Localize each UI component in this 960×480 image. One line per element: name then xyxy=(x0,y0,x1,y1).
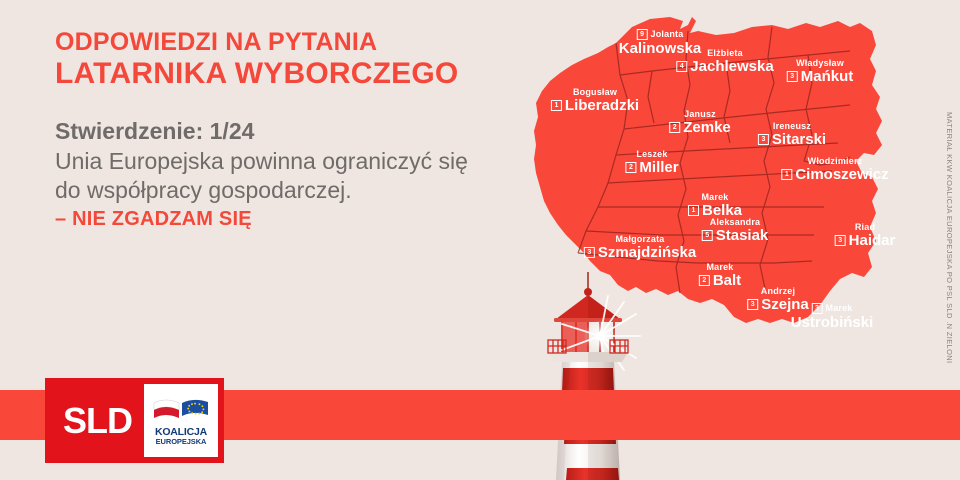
candidate-first-name: Andrzej xyxy=(747,287,809,296)
candidate-number-badge: 3 xyxy=(811,303,822,314)
candidate-last-name: Stasiak xyxy=(716,228,769,243)
statement-number-label: Stwierdzenie: 1/24 xyxy=(55,118,485,146)
candidate-last-name: Balt xyxy=(713,273,741,288)
candidate-number-badge: 3 xyxy=(747,299,758,310)
koalicja-europejska-logo: KOALICJA EUROPEJSKA xyxy=(144,384,218,457)
map-candidate-label: Leszek2Miller xyxy=(625,150,678,175)
candidate-last-name: Szmajdzińska xyxy=(598,245,696,260)
map-candidate-label: Elżbieta4Jachlewska xyxy=(676,49,773,74)
candidate-number-badge: 2 xyxy=(699,275,710,286)
candidate-last-name: Cimoszewicz xyxy=(795,167,888,182)
candidate-number-badge: 1 xyxy=(781,169,792,180)
candidate-last-name: Liberadzki xyxy=(565,98,639,113)
candidate-number-badge: 3 xyxy=(787,71,798,82)
candidate-first-name: Bogusław xyxy=(551,88,639,97)
candidate-first-name: Janusz xyxy=(669,110,731,119)
candidate-number-badge: 9 xyxy=(637,29,648,40)
candidate-first-name: Riad xyxy=(835,223,896,232)
eu-flag-icon xyxy=(182,399,208,415)
coalition-name-line-2: EUROPEJSKA xyxy=(156,438,207,446)
candidate-first-name: Ireneusz xyxy=(758,122,826,131)
candidate-last-name: Miller xyxy=(639,160,678,175)
map-candidate-label: Aleksandra5Stasiak xyxy=(702,218,769,243)
sld-wordmark: SLD xyxy=(63,403,132,439)
map-candidate-label: Małgorzata3Szmajdzińska xyxy=(584,235,696,260)
lighthouse-illustration xyxy=(528,272,648,480)
map-candidate-label: 3MarekUstrobiński xyxy=(791,303,874,330)
candidate-first-name: Leszek xyxy=(625,150,678,159)
candidate-first-name: Marek xyxy=(699,263,741,272)
map-candidate-label: Riad3Haidar xyxy=(835,223,896,248)
candidate-number-badge: 1 xyxy=(551,100,562,111)
map-candidate-label: Włodzimierz1Cimoszewicz xyxy=(781,157,888,182)
text-column: ODPOWIEDZI NA PYTANIA LATARNIKA WYBORCZE… xyxy=(55,28,485,231)
candidate-number-badge: 4 xyxy=(676,61,687,72)
candidate-number-badge: 3 xyxy=(835,235,846,246)
sld-logo-lockup: SLD xyxy=(45,378,224,463)
material-credit: MATERIAŁ KKW KOALICJA EUROPEJSKA PO PSL … xyxy=(945,112,954,363)
flags-graphic xyxy=(152,396,210,424)
map-candidate-label: Marek1Belka xyxy=(688,193,742,218)
candidate-number-badge: 3 xyxy=(584,247,595,258)
candidate-first-name: Jolanta xyxy=(651,30,684,39)
candidate-number-badge: 3 xyxy=(758,134,769,145)
candidate-number-badge: 1 xyxy=(688,205,699,216)
candidate-number-badge: 5 xyxy=(702,230,713,241)
map-candidate-label: Marek2Balt xyxy=(699,263,741,288)
candidate-number-badge: 2 xyxy=(669,122,680,133)
statement-text: Unia Europejska powinna ograniczyć się d… xyxy=(55,147,475,204)
candidate-last-name: Jachlewska xyxy=(690,59,773,74)
candidate-last-name: Belka xyxy=(702,203,742,218)
lighthouse-lamp xyxy=(596,332,605,341)
candidate-last-name: Zemke xyxy=(683,120,731,135)
candidate-first-name: Marek xyxy=(825,304,852,313)
map-candidate-label: Bogusław1Liberadzki xyxy=(551,88,639,113)
map-candidate-label: Ireneusz3Sitarski xyxy=(758,122,826,147)
candidate-first-name: Aleksandra xyxy=(702,218,769,227)
candidate-number-badge: 2 xyxy=(625,162,636,173)
candidate-last-name: Sitarski xyxy=(772,132,826,147)
map-candidate-label: Władysław3Mańkut xyxy=(787,59,854,84)
candidate-first-name: Marek xyxy=(688,193,742,202)
candidate-last-name: Haidar xyxy=(849,233,896,248)
candidate-last-name: Mańkut xyxy=(801,69,854,84)
statement-block: Stwierdzenie: 1/24 Unia Europejska powin… xyxy=(55,118,485,232)
candidate-first-name: Elżbieta xyxy=(676,49,773,58)
candidate-first-name: Małgorzata xyxy=(584,235,696,244)
answer-text: – NIE ZGADZAM SIĘ xyxy=(55,208,485,231)
candidate-first-name: Włodzimierz xyxy=(781,157,888,166)
coalition-name-line-1: KOALICJA xyxy=(155,427,207,438)
headline-line-2: LATARNIKA WYBORCZEGO xyxy=(55,57,485,91)
map-candidate-label: Janusz2Zemke xyxy=(669,110,731,135)
headline-line-1: ODPOWIEDZI NA PYTANIA xyxy=(55,28,485,56)
polish-flag-icon xyxy=(154,400,179,418)
lighthouse-finial xyxy=(584,288,592,296)
candidate-last-name: Ustrobiński xyxy=(791,315,874,330)
candidate-first-name: Władysław xyxy=(787,59,854,68)
